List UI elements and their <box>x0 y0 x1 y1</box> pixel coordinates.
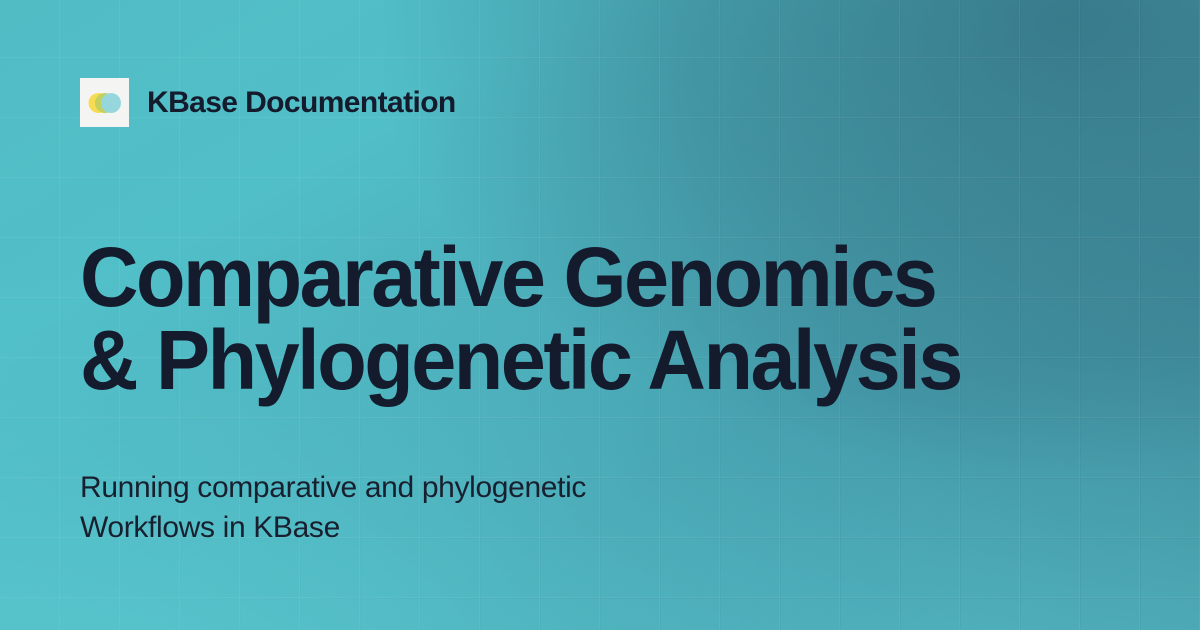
kbase-logo-icon <box>80 78 129 127</box>
page-title: Comparative Genomics & Phylogenetic Anal… <box>80 236 1103 402</box>
brand-header[interactable]: KBase Documentation <box>80 78 456 127</box>
page-subtitle: Running comparative and phylogenetic Wor… <box>80 468 840 548</box>
og-card: KBase Documentation Comparative Genomics… <box>0 0 1200 630</box>
page-subtitle-line-1: Running comparative and phylogenetic <box>80 468 840 508</box>
page-title-line-2: & Phylogenetic Analysis <box>80 319 1103 402</box>
page-subtitle-line-2: Workflows in KBase <box>80 508 840 548</box>
brand-name: KBase Documentation <box>147 88 456 118</box>
page-title-line-1: Comparative Genomics <box>80 236 1103 319</box>
card-content: KBase Documentation Comparative Genomics… <box>0 0 1200 630</box>
